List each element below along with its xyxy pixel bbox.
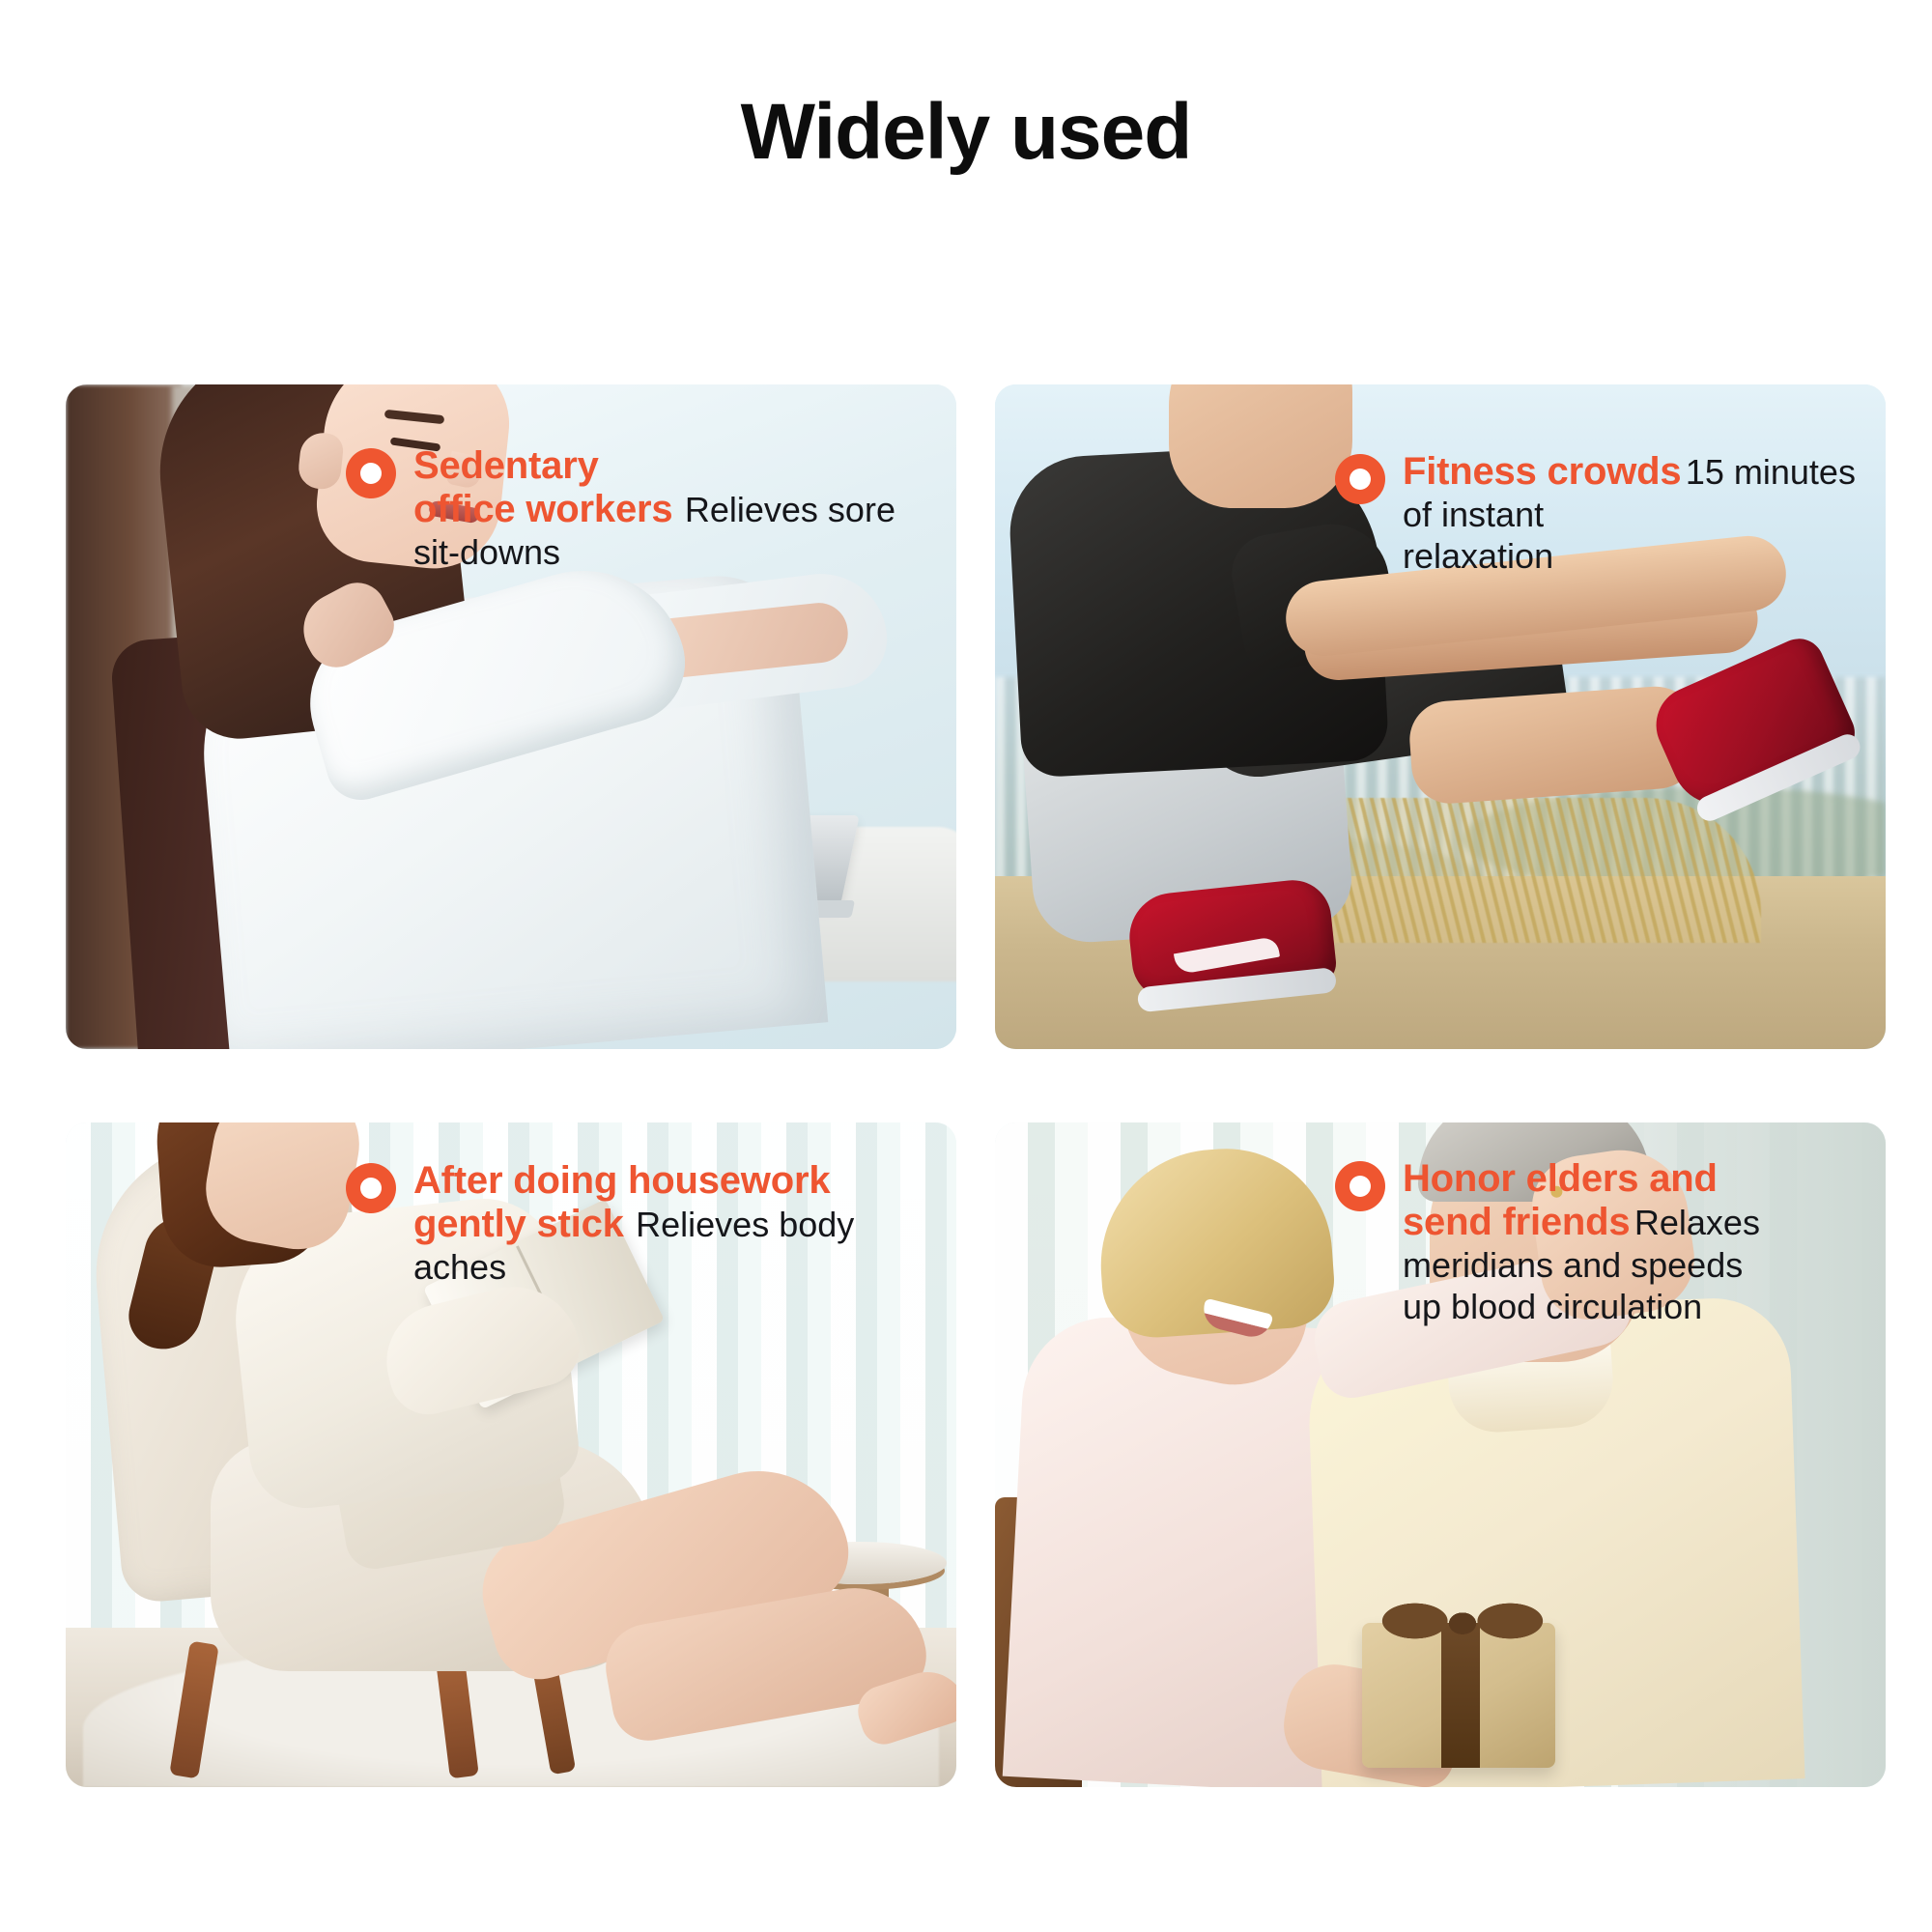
athlete-planted-shoe [1125, 876, 1338, 1003]
ring-bullet-center [360, 1178, 382, 1199]
athlete-shin [1407, 684, 1704, 807]
ring-bullet-icon [346, 448, 396, 498]
card-overlay-text: Honor elders and send friends Relaxes me… [1335, 1157, 1876, 1327]
overlay-text-group: After doing housework gently stick Relie… [413, 1159, 945, 1288]
overlay-text-group: Honor elders and send friends Relaxes me… [1403, 1157, 1876, 1327]
use-case-grid: Sedentary office workers Relieves sore s… [66, 384, 1886, 1787]
use-case-card-fitness-crowds[interactable]: Fitness crowds 15 minutes of instant rel… [995, 384, 1886, 1049]
ring-bullet-center [1350, 1176, 1371, 1197]
use-case-card-after-housework[interactable]: After doing housework gently stick Relie… [66, 1122, 956, 1787]
use-case-card-sedentary-office-workers[interactable]: Sedentary office workers Relieves sore s… [66, 384, 956, 1049]
card-overlay-text: Sedentary office workers Relieves sore s… [346, 444, 935, 573]
ring-bullet-icon [1335, 454, 1385, 504]
ring-bullet-icon [1335, 1161, 1385, 1211]
overlay-text-group: Fitness crowds 15 minutes of instant rel… [1403, 450, 1876, 577]
ring-bullet-center [360, 463, 382, 484]
card-title: Sedentary office workers [413, 444, 672, 530]
gift-bow [1378, 1596, 1548, 1646]
card-title: Fitness crowds [1403, 450, 1681, 493]
overlay-text-group: Sedentary office workers Relieves sore s… [413, 444, 935, 573]
athlete-head [1169, 384, 1352, 508]
use-case-card-honor-elders[interactable]: Honor elders and send friends Relaxes me… [995, 1122, 1886, 1787]
ring-bullet-center [1350, 469, 1371, 490]
ring-bullet-icon [346, 1163, 396, 1213]
card-overlay-text: After doing housework gently stick Relie… [346, 1159, 945, 1288]
card-overlay-text: Fitness crowds 15 minutes of instant rel… [1335, 450, 1876, 577]
page-title: Widely used [0, 93, 1932, 172]
marketing-page: Widely used [0, 0, 1932, 1932]
